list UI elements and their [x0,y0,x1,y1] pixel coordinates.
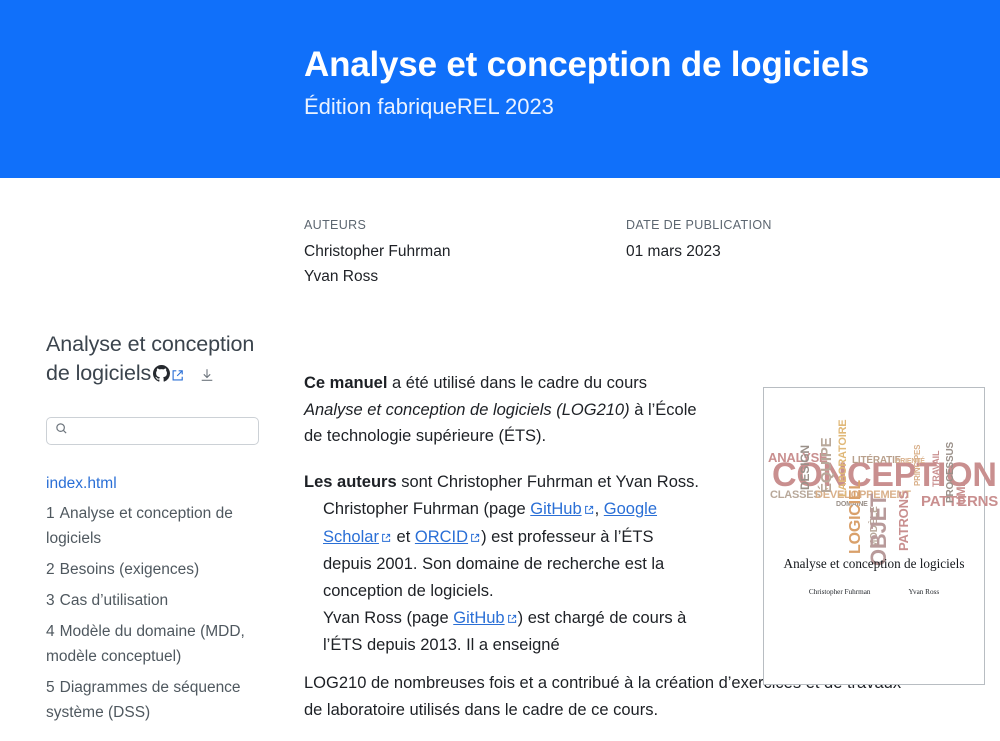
chapter-number: 3 [46,592,55,609]
word-cloud-term: LOGICIEL [848,480,864,554]
word-cloud: CONCEPTIONANALYSECLASSESDÉVELOPPEMENTDOM… [764,398,986,548]
external-link-icon [507,606,517,633]
metadata-row: AUTEURS Christopher Fuhrman Yvan Ross DA… [304,216,924,289]
external-link-icon [470,525,480,552]
book-cover-image: CONCEPTIONANALYSECLASSESDÉVELOPPEMENTDOM… [763,387,985,685]
search-input[interactable] [74,423,250,438]
banner-text-block: Analyse et conception de logiciels Éditi… [304,0,924,121]
paragraph-lead-auteurs: Les auteurs [304,473,397,491]
bio-separator-1: , [595,500,604,518]
word-cloud-term: UML [955,480,967,505]
external-link-icon [381,525,391,552]
chapter-number: 5 [46,679,55,696]
link-github-fuhrman[interactable]: GitHub [530,500,581,518]
paragraph-auteurs: Les auteurs sont Christopher Fuhrman et … [304,469,706,659]
cover-title: Analyse et conception de logiciels [764,556,984,572]
cover-author-2: Yvan Ross [909,588,940,596]
cover-author-1: Christopher Fuhrman [809,588,871,596]
search-box[interactable] [46,417,259,445]
word-cloud-term: TRAVAIL [932,451,941,487]
page-subtitle: Édition fabriqueREL 2023 [304,85,924,120]
chapter-label: Diagrammes de séquence système (DSS) [46,679,241,721]
author-bio-fuhrman: Christopher Fuhrman (page GitHub, Google… [304,496,706,605]
paragraph-manuel-text-1: a été utilisé dans le cadre du cours [387,374,647,392]
sidebar-item-chapter-4[interactable]: 4Modèle du domaine (MDD, modèle conceptu… [46,619,261,669]
authors-block: AUTEURS Christopher Fuhrman Yvan Ross [304,216,626,289]
bio-ross-prefix: Yvan Ross (page [323,609,453,627]
chapter-label: Analyse et conception de logiciels [46,505,233,547]
word-cloud-term: LITÉRATIF [852,456,901,466]
chapter-number: 1 [46,505,55,522]
page-title: Analyse et conception de logiciels [304,0,924,85]
chapter-label: Modèle du domaine (MDD, modèle conceptue… [46,623,245,665]
paragraph-auteurs-text-1: sont Christopher Fuhrman et Yvan Ross. [397,473,699,491]
authors-label: AUTEURS [304,216,626,235]
chapter-label: Besoins (exigences) [60,561,200,578]
sidebar-title-icons [151,359,215,391]
publication-date-block: DATE DE PUBLICATION 01 mars 2023 [626,216,772,289]
paragraph-manuel: Ce manuel a été utilisé dans le cadre du… [304,370,706,450]
chapter-label: Cas d’utilisation [60,592,169,609]
sidebar: Analyse et conception de logiciels index… [46,330,261,731]
bio-separator-2: et [392,528,415,546]
word-cloud-term: ÉQUIPE [819,438,834,493]
sidebar-title: Analyse et conception de logiciels [46,330,261,391]
cover-authors: Christopher Fuhrman Yvan Ross [764,588,984,596]
publication-date-value: 01 mars 2023 [626,239,772,264]
external-link-icon[interactable] [171,361,184,390]
author-name-2: Yvan Ross [304,264,626,289]
search-icon [55,422,68,440]
course-title-italic: Analyse et conception de logiciels (LOG2… [304,401,630,419]
link-github-ross[interactable]: GitHub [453,609,504,627]
sidebar-item-chapter-2[interactable]: 2Besoins (exigences) [46,557,261,582]
main-content: Ce manuel a été utilisé dans le cadre du… [304,370,706,678]
bio-fuhrman-prefix: Christopher Fuhrman (page [323,500,530,518]
author-name-1: Christopher Fuhrman [304,239,626,264]
sidebar-item-chapter-5[interactable]: 5Diagrammes de séquence système (DSS) [46,675,261,725]
word-cloud-term: PATRONS [897,491,910,551]
publication-date-label: DATE DE PUBLICATION [626,216,772,235]
external-link-icon [584,497,594,524]
word-cloud-term: PRINCIPES [914,445,922,486]
table-of-contents: index.html 1Analyse et conception de log… [46,472,261,726]
chapter-number: 4 [46,623,55,640]
page-header-banner: Analyse et conception de logiciels Éditi… [0,0,1000,178]
word-cloud-term: DESIGN [799,445,811,490]
author-bio-ross: Yvan Ross (page GitHub) est chargé de co… [304,605,706,659]
sidebar-item-chapter-3[interactable]: 3Cas d’utilisation [46,588,261,613]
chapter-number: 2 [46,561,55,578]
github-icon[interactable] [153,361,170,390]
word-cloud-term: CLASSES [770,490,821,501]
link-orcid[interactable]: ORCID [415,528,468,546]
sidebar-item-chapter-1[interactable]: 1Analyse et conception de logiciels [46,501,261,551]
sidebar-title-text: Analyse et conception de logiciels [46,332,254,385]
paragraph-lead-manuel: Ce manuel [304,374,387,392]
sidebar-item-index[interactable]: index.html [46,472,261,496]
download-icon[interactable] [199,362,215,391]
